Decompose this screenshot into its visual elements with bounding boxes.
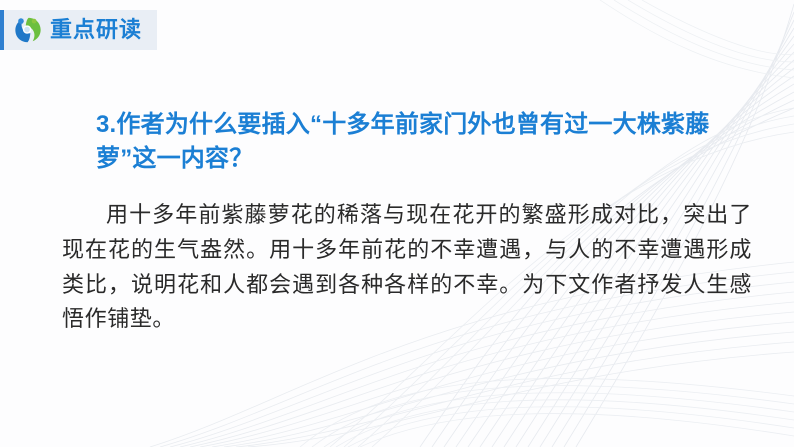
header-accent-bar	[0, 10, 4, 50]
answer-paragraph: 用十多年前紫藤萝花的稀落与现在花开的繁盛形成对比，突出了现在花的生气盎然。用十多…	[62, 198, 752, 337]
brand-people-circle-icon	[13, 15, 43, 45]
question-heading: 3.作者为什么要插入“十多年前家门外也曾有过一大株紫藤萝”这一内容？	[96, 108, 736, 176]
header-badge: 重点研读	[13, 12, 142, 48]
slide-canvas: 重点研读 3.作者为什么要插入“十多年前家门外也曾有过一大株紫藤萝”这一内容？ …	[0, 0, 794, 447]
header-badge-label: 重点研读	[50, 19, 142, 41]
